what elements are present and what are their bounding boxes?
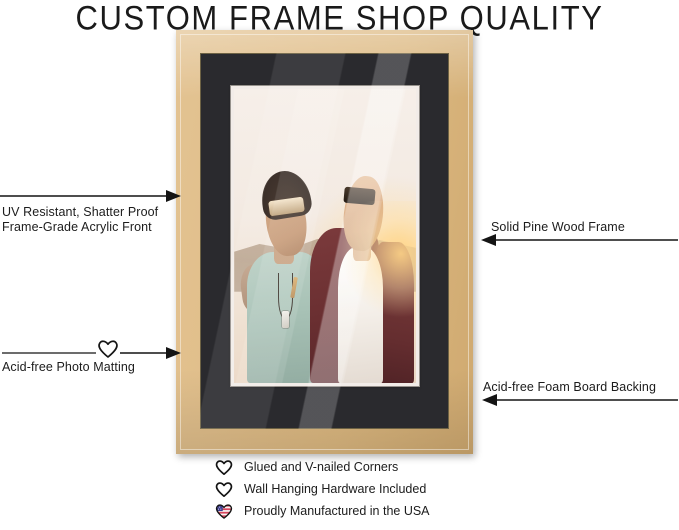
heart-outline-icon — [213, 458, 235, 476]
callout-photo-matting-label: Acid-free Photo Matting — [2, 360, 135, 375]
heart-usa-flag-icon — [213, 502, 235, 520]
callout-acrylic-front: UV Resistant, Shatter Proof Frame-Grade … — [2, 205, 158, 235]
arrow-left-pine-wood-frame — [480, 232, 679, 248]
product-infographic: CUSTOM FRAME SHOP QUALITY — [0, 0, 679, 530]
list-item-label: Proudly Manufactured in the USA — [244, 504, 430, 518]
callout-acrylic-front-line2: Frame-Grade Acrylic Front — [2, 220, 158, 235]
feature-list: Glued and V-nailed Corners Wall Hanging … — [213, 456, 430, 522]
callout-acrylic-front-line1: UV Resistant, Shatter Proof — [2, 205, 158, 220]
list-item-label: Wall Hanging Hardware Included — [244, 482, 426, 496]
woman-sunglasses — [343, 186, 376, 205]
list-item: Proudly Manufactured in the USA — [213, 500, 430, 522]
arrow-right-photo-matting — [98, 345, 182, 361]
picture-frame — [176, 30, 473, 454]
heart-outline-icon — [213, 480, 235, 498]
list-item: Glued and V-nailed Corners — [213, 456, 430, 478]
arrow-left-foam-board-backing — [481, 392, 679, 408]
list-item: Wall Hanging Hardware Included — [213, 478, 430, 500]
callout-photo-matting: Acid-free Photo Matting — [2, 360, 135, 375]
photo-person-woman — [314, 148, 412, 383]
arrow-line-photo-matting-left — [2, 345, 97, 361]
list-item-label: Glued and V-nailed Corners — [244, 460, 398, 474]
photo-opening — [231, 86, 419, 386]
photo-mat — [200, 53, 449, 429]
woman-tank-top — [338, 247, 383, 383]
arrow-right-acrylic-front — [0, 188, 182, 204]
man-dog-tag — [282, 311, 288, 328]
photo-couple-sunset — [234, 89, 416, 383]
